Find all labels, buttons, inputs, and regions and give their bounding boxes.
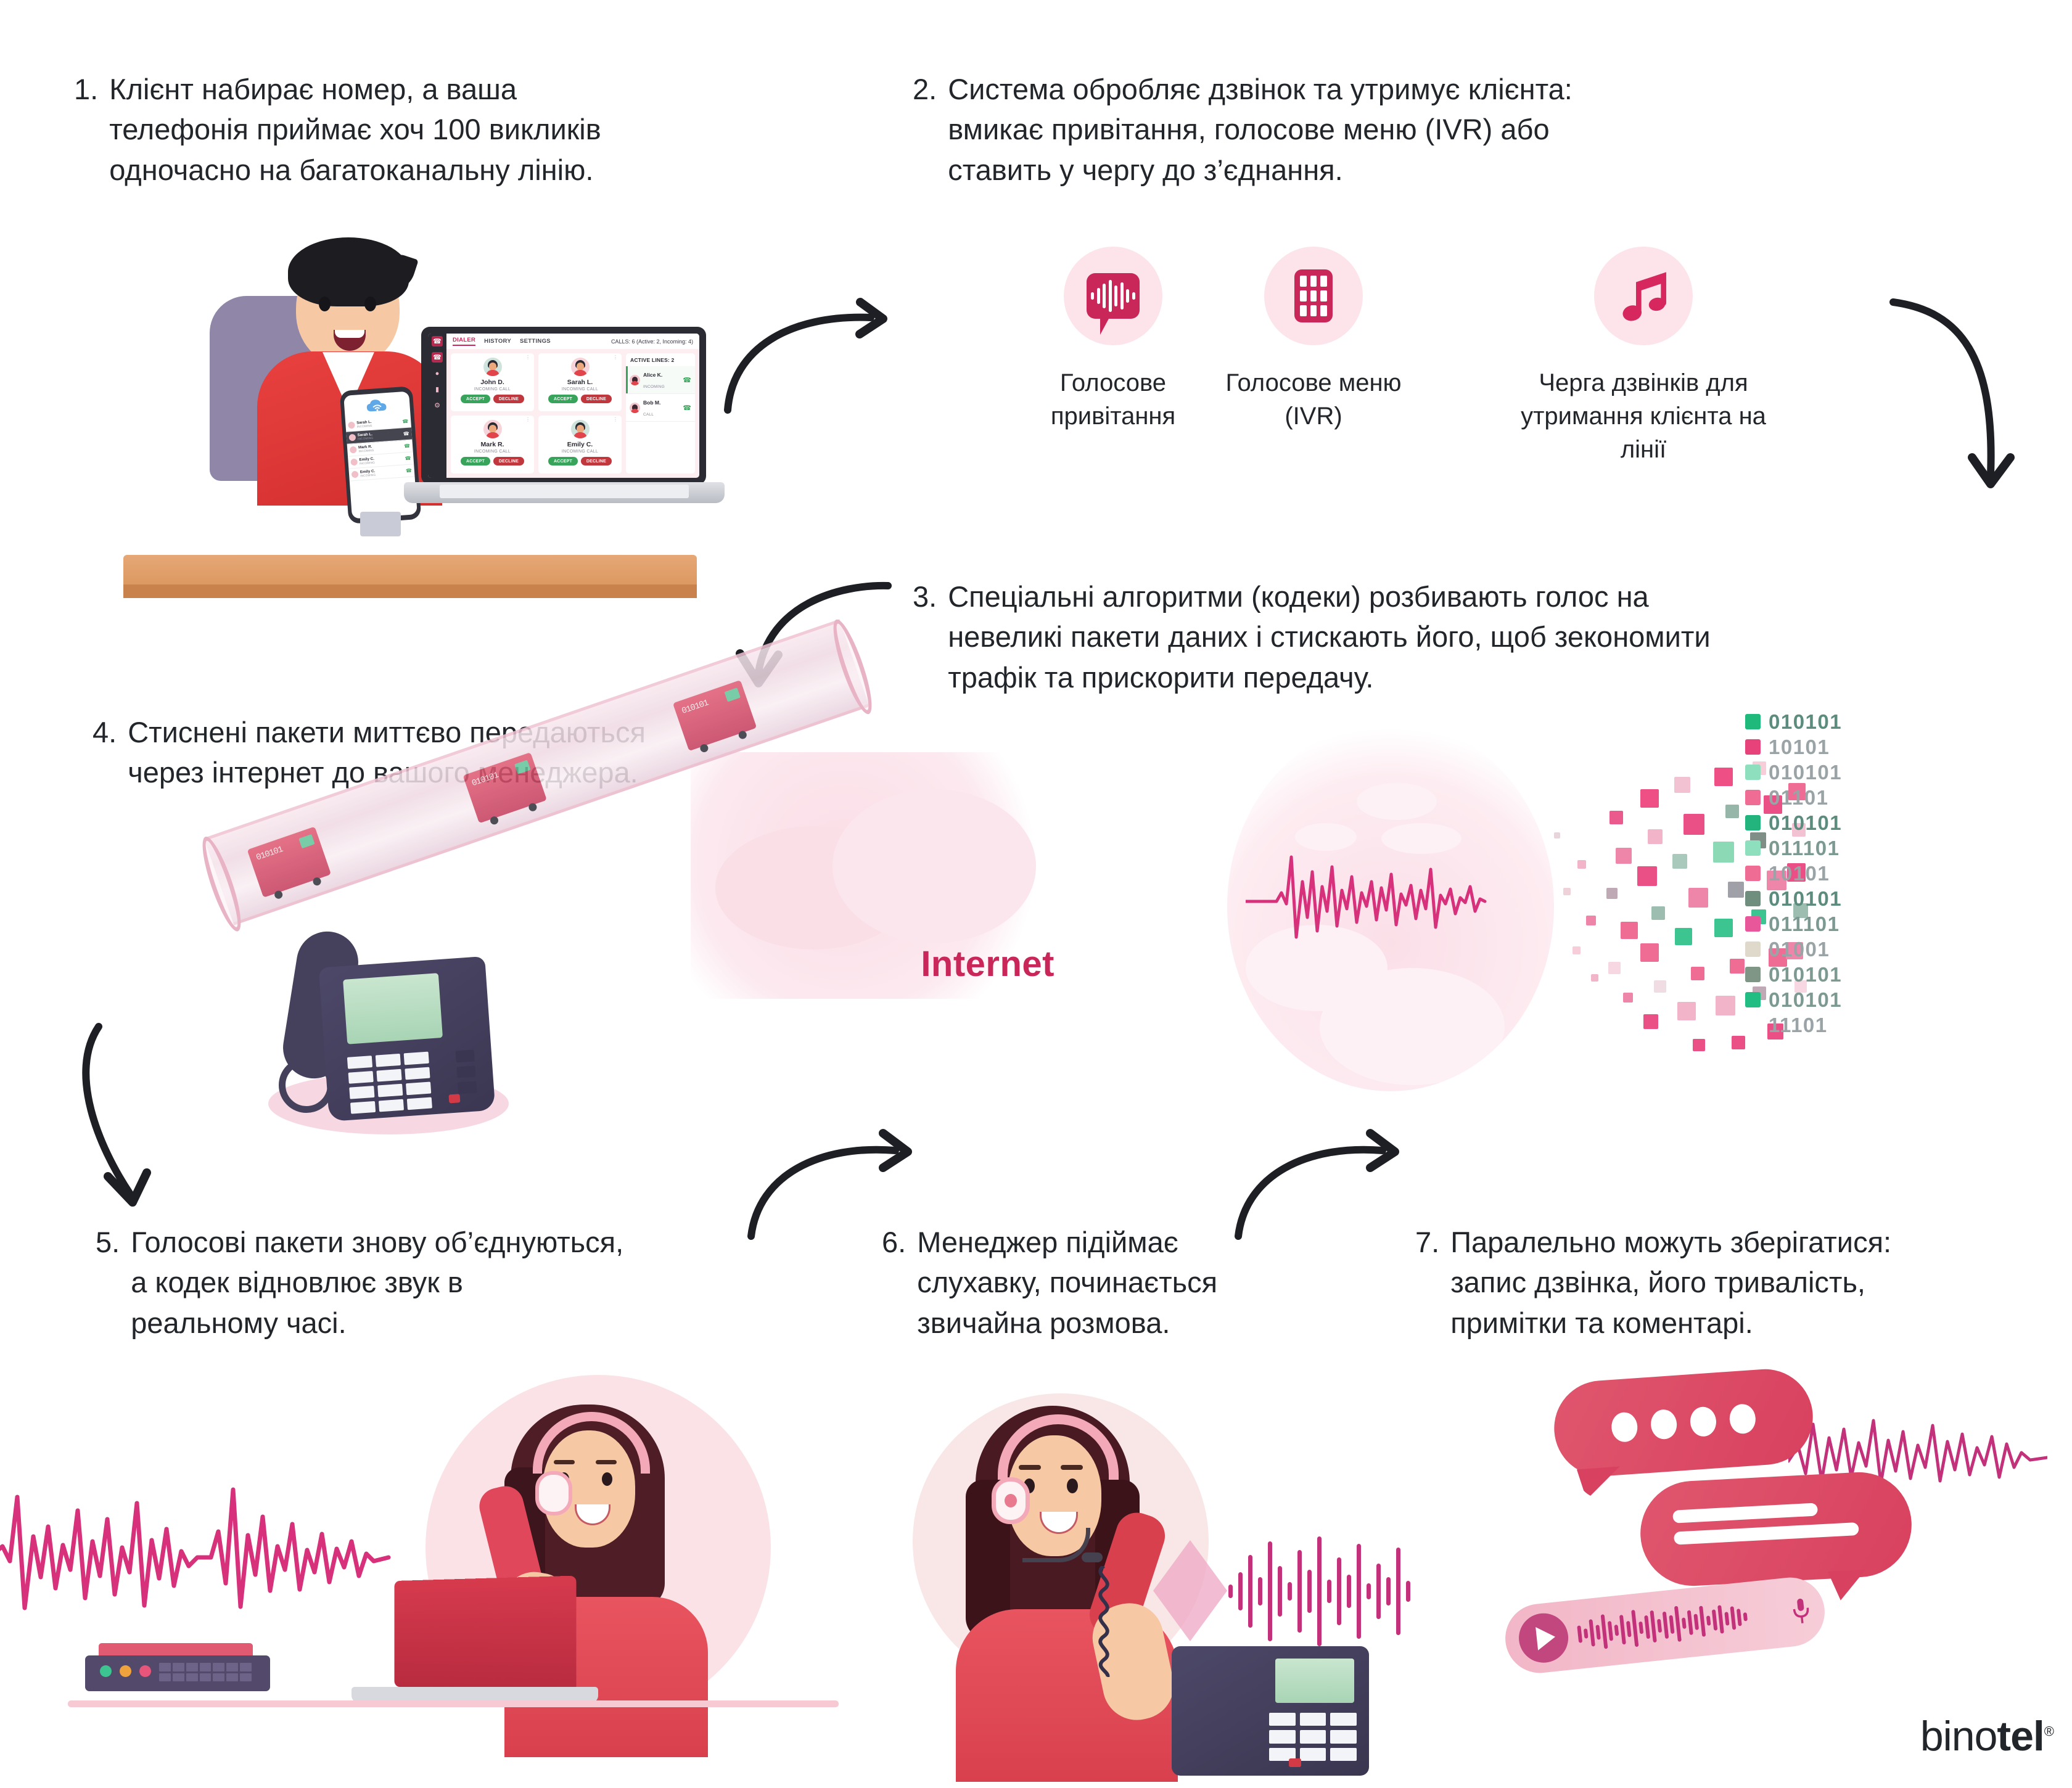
packet-swatch xyxy=(1745,765,1761,780)
arrow-step1-to-step2 xyxy=(709,290,931,422)
binary-digits: 010101 xyxy=(1769,710,1842,734)
voice-waveform xyxy=(1246,845,1554,956)
caller-name: Sarah L. xyxy=(567,379,593,386)
packet-swatch xyxy=(1745,866,1761,881)
laptop-mockup: ☎ ☎ ● ▮ ⚙ DIALER HISTORY SETTINGS CALLS:… xyxy=(404,327,725,512)
binotel-logo: binotel® xyxy=(1920,1712,2053,1760)
packet-swatch xyxy=(1745,739,1761,755)
step-7-text: Паралельно можуть зберігатися: запис дзв… xyxy=(1450,1222,1891,1343)
decline-button[interactable]: DECLINE xyxy=(493,457,524,465)
registered-mark: ® xyxy=(2044,1723,2053,1739)
dialpad-ivr-icon xyxy=(1264,247,1363,345)
step-3: 3. Спеціальні алгоритми (кодеки) розбива… xyxy=(913,576,1850,697)
packet-swatch xyxy=(1745,840,1761,856)
packet-swatch xyxy=(1745,941,1761,957)
typing-bubble xyxy=(1551,1366,1816,1480)
binary-digits: 10101 xyxy=(1769,736,1830,759)
step-3-illustration xyxy=(1209,703,1825,1122)
call-status: INCOMING CALL xyxy=(562,449,598,454)
binary-row: 11101 xyxy=(1745,1012,1930,1038)
step-4-number: 4. xyxy=(92,712,117,793)
headset-icon xyxy=(992,1477,1030,1524)
call-card[interactable]: ⋮ Mark R. INCOMING CALL ACCEPT DECLINE xyxy=(451,416,534,474)
brand-phone-icon: ☎ xyxy=(432,336,443,347)
more-options-icon[interactable]: ⋮ xyxy=(613,419,618,421)
sidebar-item-chat[interactable]: ● xyxy=(432,368,443,379)
music-queue-icon xyxy=(1594,247,1693,345)
laptop-keyboard xyxy=(440,485,689,498)
binary-digits: 010101 xyxy=(1769,887,1842,911)
step-6-number: 6. xyxy=(882,1222,906,1343)
data-packet-wagon: 010101 xyxy=(463,752,547,823)
call-status: INCOMING CALL xyxy=(474,449,511,454)
infographic-canvas: 1. Клієнт набирає номер, а ваша телефоні… xyxy=(0,0,2072,1788)
packet-swatch xyxy=(1745,790,1761,805)
accept-button[interactable]: ACCEPT xyxy=(461,457,490,465)
more-options-icon[interactable]: ⋮ xyxy=(613,356,618,359)
packet-swatch xyxy=(1745,891,1761,906)
packet-swatch xyxy=(1745,916,1761,932)
binary-digits: 010101 xyxy=(1769,963,1842,986)
binary-digits: 01101 xyxy=(1769,786,1828,810)
active-line-row[interactable]: Alice K.INCOMING ☎ xyxy=(626,366,695,394)
binary-digits: 010101 xyxy=(1769,988,1842,1012)
active-lines-panel: ACTIVE LINES: 2 Alice K.INCOMING ☎ Bob M… xyxy=(626,353,695,474)
tab-history[interactable]: HISTORY xyxy=(484,338,511,345)
voice-greeting-icon xyxy=(1064,247,1162,345)
binary-digits: 011101 xyxy=(1769,837,1840,860)
binary-row: 010101 xyxy=(1745,760,1930,785)
step-7-illustration xyxy=(1492,1344,2047,1726)
operator-desk-phone xyxy=(1172,1628,1375,1782)
active-lines-title: ACTIVE LINES: 2 xyxy=(626,357,695,366)
sidebar-item-messages[interactable]: ▮ xyxy=(432,384,443,395)
step-2-text: Система обробляє дзвінок та утримує кліє… xyxy=(948,69,1572,190)
caller-name: Mark R. xyxy=(481,441,504,448)
tab-dialer[interactable]: DIALER xyxy=(453,337,475,346)
feature-caption: Голосове меню (IVR) xyxy=(1212,366,1415,433)
binary-row: 011101 xyxy=(1745,835,1930,861)
binary-row: 10101 xyxy=(1745,734,1930,760)
manager-laptop xyxy=(351,1578,598,1708)
step-6-illustration xyxy=(906,1338,1461,1788)
note-bubble xyxy=(1638,1470,1914,1589)
binary-digits: 01001 xyxy=(1769,938,1830,961)
dialer-app-screen: ☎ ☎ ● ▮ ⚙ DIALER HISTORY SETTINGS CALLS:… xyxy=(428,334,699,478)
more-options-icon[interactable]: ⋮ xyxy=(525,356,530,359)
phone-icon[interactable]: ☎ xyxy=(683,376,691,384)
accept-button[interactable]: ACCEPT xyxy=(548,395,578,403)
step-6: 6. Менеджер підіймає слухавку, починаєть… xyxy=(882,1222,1350,1343)
step-2: 2. Система обробляє дзвінок та утримує к… xyxy=(913,69,1776,190)
step-2-number: 2. xyxy=(913,69,937,190)
call-card[interactable]: ⋮ Sarah L. INCOMING CALL ACCEPT DECLINE xyxy=(538,353,622,411)
accept-button[interactable]: ACCEPT xyxy=(461,395,490,403)
feature-call-queue: Черга дзвінків для утримання клієнта на … xyxy=(1542,247,1745,466)
calls-summary: CALLS: 6 (Active: 2, Incoming: 4) xyxy=(611,338,693,345)
binary-row: 10101 xyxy=(1745,861,1930,886)
data-packet-wagon: 010101 xyxy=(673,680,757,751)
step-3-number: 3. xyxy=(913,576,937,697)
packet-swatch xyxy=(1745,815,1761,830)
step-5-illustration xyxy=(0,1282,857,1751)
app-toolbar: DIALER HISTORY SETTINGS CALLS: 6 (Active… xyxy=(446,334,699,349)
call-card[interactable]: ⋮ Emily C. INCOMING CALL ACCEPT DECLINE xyxy=(538,416,622,474)
binary-row: 011101 xyxy=(1745,911,1930,937)
feature-caption: Голосове привітання xyxy=(1011,366,1215,433)
step-7: 7. Паралельно можуть зберігатися: запис … xyxy=(1415,1222,1970,1343)
phone-cord xyxy=(1085,1566,1122,1677)
call-status: INCOMING CALL xyxy=(474,387,511,392)
phone-icon[interactable]: ☎ xyxy=(683,404,691,412)
binary-row: 010101 xyxy=(1745,962,1930,987)
binary-digits: 010101 xyxy=(1769,811,1842,835)
microphone-icon[interactable] xyxy=(1790,1595,1812,1626)
step-3-text: Спеціальні алгоритми (кодеки) розбивають… xyxy=(948,576,1710,697)
binary-digits: 011101 xyxy=(1769,912,1840,936)
binary-digits: 11101 xyxy=(1769,1014,1828,1037)
call-recording-player[interactable] xyxy=(1502,1574,1828,1676)
packet-swatch xyxy=(1745,1017,1761,1033)
packet-swatch xyxy=(1745,992,1761,1007)
step-1-illustration: Sarah L.INCOMING ☎ Sarah L.INCOMING ☎ Ma… xyxy=(111,203,752,598)
feature-ivr-menu: Голосове меню (IVR) xyxy=(1212,247,1415,433)
binary-digits: 010101 xyxy=(1769,761,1842,784)
feature-voice-greeting: Голосове привітання xyxy=(1011,247,1215,433)
tab-settings[interactable]: SETTINGS xyxy=(520,338,551,345)
binary-row: 01101 xyxy=(1745,785,1930,810)
step-7-number: 7. xyxy=(1415,1222,1439,1343)
packet-swatch xyxy=(1745,967,1761,982)
call-card[interactable]: ⋮ John D. INCOMING CALL ACCEPT DECLINE xyxy=(451,353,534,411)
phone-stand xyxy=(360,512,401,536)
feature-caption: Черга дзвінків для утримання клієнта на … xyxy=(1498,366,1788,466)
arrow-step4-to-step5 xyxy=(74,1017,216,1224)
decline-button[interactable]: DECLINE xyxy=(581,395,612,403)
binary-row: 010101 xyxy=(1745,987,1930,1012)
step-1: 1. Клієнт набирає номер, а ваша телефоні… xyxy=(74,69,802,190)
caller-name: John D. xyxy=(480,379,504,386)
desk-phone xyxy=(265,925,512,1134)
binary-stream: 010101 10101 010101 01101 010101 011101 … xyxy=(1745,709,1930,1038)
logo-light: bino xyxy=(1920,1713,1997,1760)
desk-edge xyxy=(123,584,697,598)
step-6-text: Менеджер підіймає слухавку, починається … xyxy=(917,1222,1217,1343)
binary-digits: 10101 xyxy=(1769,862,1830,885)
app-sidebar: ☎ ☎ ● ▮ ⚙ xyxy=(428,334,446,478)
binary-row: 010101 xyxy=(1745,709,1930,734)
decline-button[interactable]: DECLINE xyxy=(493,395,524,403)
step-1-text: Клієнт набирає номер, а ваша телефонія п… xyxy=(109,69,601,190)
more-options-icon[interactable]: ⋮ xyxy=(525,419,530,421)
binary-row: 01001 xyxy=(1745,937,1930,962)
active-line-row[interactable]: Bob M.CALL ☎ xyxy=(626,394,695,422)
accept-button[interactable]: ACCEPT xyxy=(548,457,578,465)
internet-label: Internet xyxy=(921,943,1054,985)
step-1-number: 1. xyxy=(74,69,98,190)
packet-swatch xyxy=(1745,714,1761,729)
arrow-step2-to-step3 xyxy=(1887,290,2041,509)
binary-row: 010101 xyxy=(1745,886,1930,911)
data-packet-wagon: 010101 xyxy=(247,827,331,898)
binary-row: 010101 xyxy=(1745,810,1930,835)
sidebar-item-calls[interactable]: ☎ xyxy=(432,352,443,363)
recording-waveform-bars xyxy=(1576,1591,1783,1655)
play-button[interactable] xyxy=(1516,1611,1571,1665)
step-4-illustration: 010101 010101 010101 Internet xyxy=(185,740,1110,1171)
decline-button[interactable]: DECLINE xyxy=(581,457,612,465)
gear-icon[interactable]: ⚙ xyxy=(432,400,443,411)
logo-bold: tel xyxy=(1997,1713,2044,1760)
desk-line xyxy=(68,1700,839,1707)
call-status: INCOMING CALL xyxy=(562,387,598,392)
cloud-wifi-icon xyxy=(365,398,390,416)
caller-name: Emily C. xyxy=(567,441,593,448)
voip-router xyxy=(85,1643,270,1700)
